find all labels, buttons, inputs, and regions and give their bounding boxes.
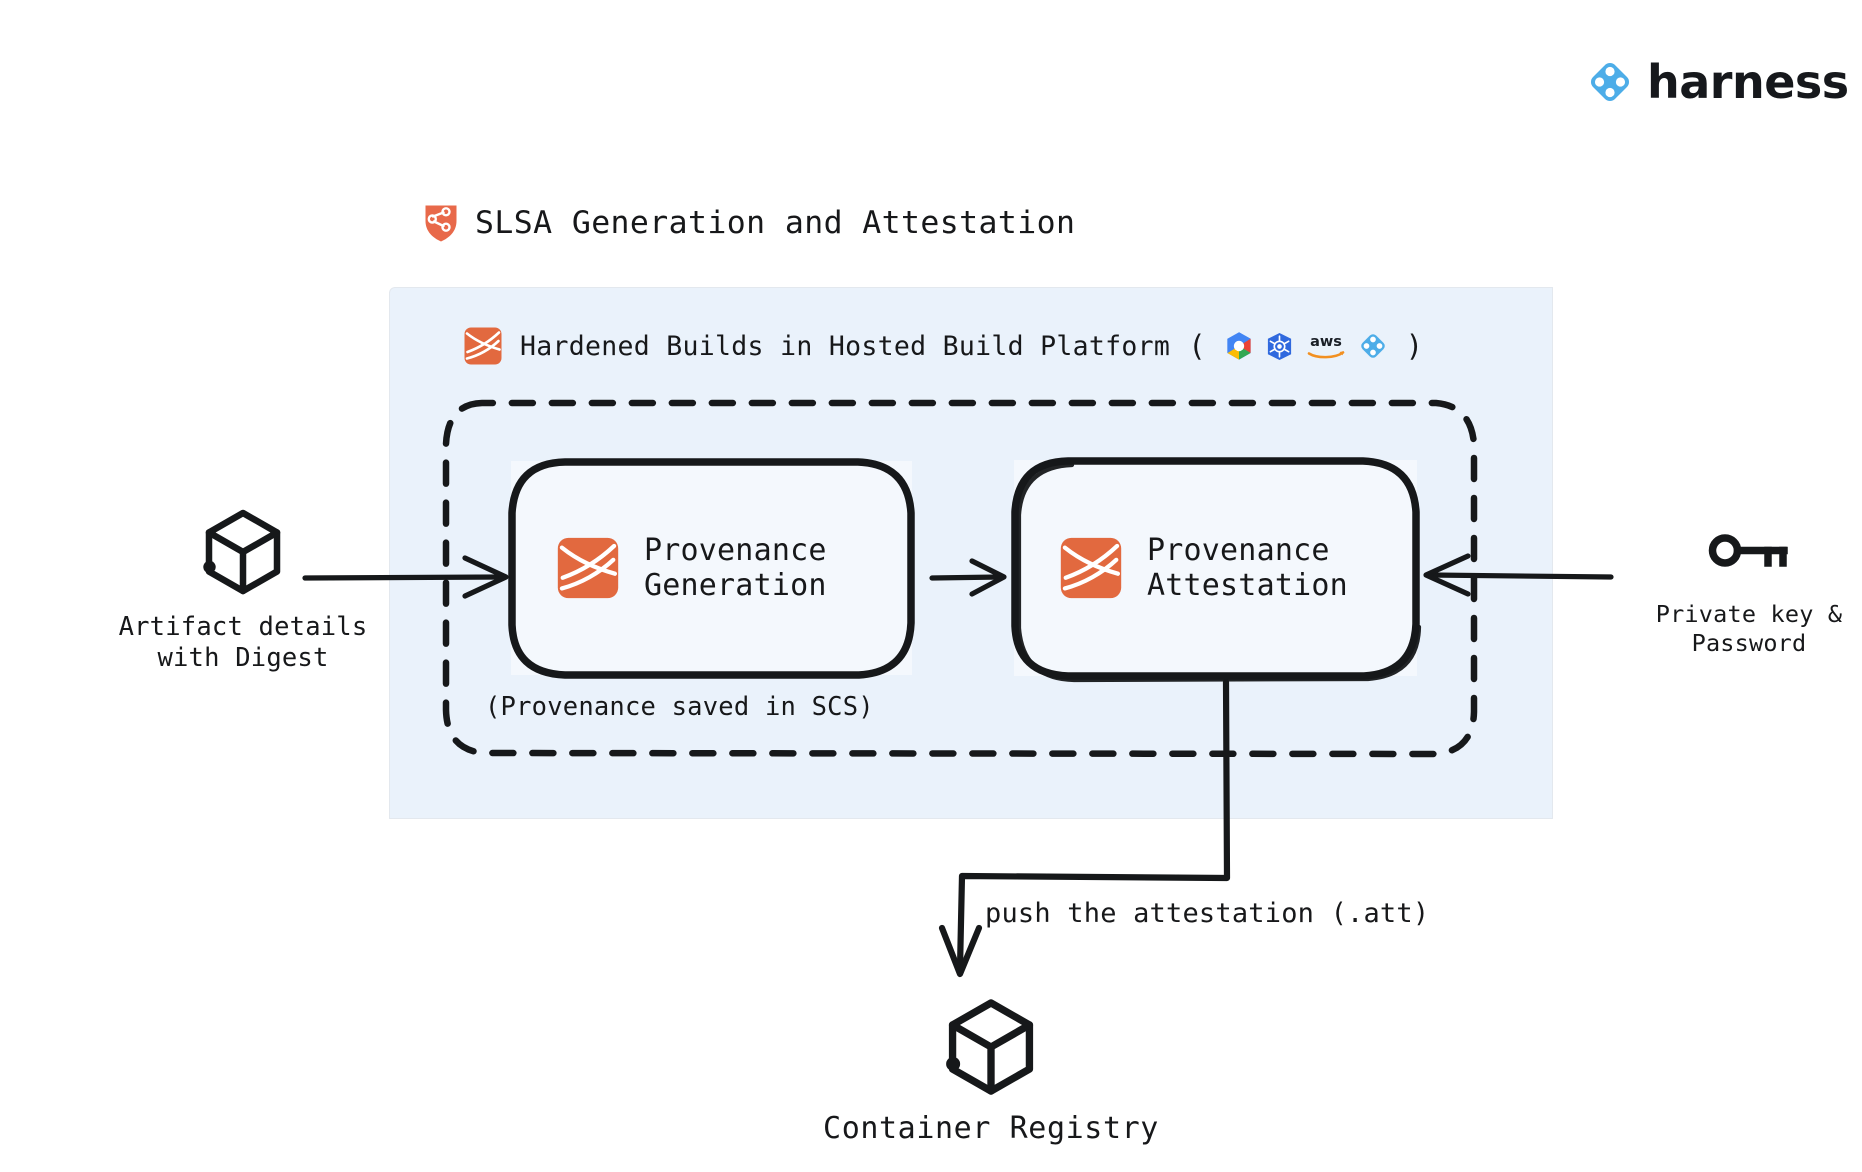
kubernetes-icon (1265, 332, 1294, 361)
slsa-shield-icon (424, 203, 458, 243)
artifact-node: Artifact details with Digest (93, 506, 393, 674)
platform-icon-group: aws (1224, 331, 1388, 361)
hardened-builds-text: Hardened Builds in Hosted Build Platform (520, 331, 1170, 362)
diagram-canvas: harness SLSA Generation and Attestation (0, 0, 1862, 1172)
push-attestation-label: push the attestation (.att) (985, 898, 1429, 929)
harness-square-logo-icon (557, 537, 619, 599)
container-registry-caption: Container Registry (796, 1111, 1186, 1148)
provenance-storage-caption: (Provenance saved in SCS) (485, 692, 874, 722)
provenance-generation-box[interactable]: Provenance Generation (511, 461, 912, 675)
hardened-builds-header: Hardened Builds in Hosted Build Platform… (464, 327, 1423, 365)
key-icon (1604, 534, 1862, 580)
paren-open: ( (1188, 332, 1205, 361)
private-key-caption: Private key & Password (1604, 600, 1862, 657)
cube-icon (796, 995, 1186, 1099)
aws-icon: aws (1305, 331, 1347, 361)
section-title: SLSA Generation and Attestation (424, 203, 1075, 243)
harness-square-logo-icon (1060, 537, 1122, 599)
provenance-generation-label: Provenance Generation (644, 533, 827, 603)
cube-icon (93, 506, 393, 598)
brand-name: harness (1647, 59, 1849, 105)
provenance-attestation-label: Provenance Attestation (1147, 533, 1348, 603)
harness-brand-logo: harness (1586, 58, 1849, 106)
artifact-caption: Artifact details with Digest (93, 612, 393, 674)
section-title-text: SLSA Generation and Attestation (475, 205, 1075, 241)
svg-text:aws: aws (1310, 334, 1342, 350)
harness-diamond-logo-icon (1586, 58, 1634, 106)
container-registry-node: Container Registry (796, 995, 1186, 1148)
harness-square-logo-icon (464, 327, 502, 365)
paren-close: ) (1406, 332, 1423, 361)
provenance-attestation-box[interactable]: Provenance Attestation (1014, 460, 1417, 676)
harness-icon (1358, 331, 1388, 361)
google-cloud-icon (1224, 331, 1254, 361)
private-key-node: Private key & Password (1604, 534, 1862, 657)
